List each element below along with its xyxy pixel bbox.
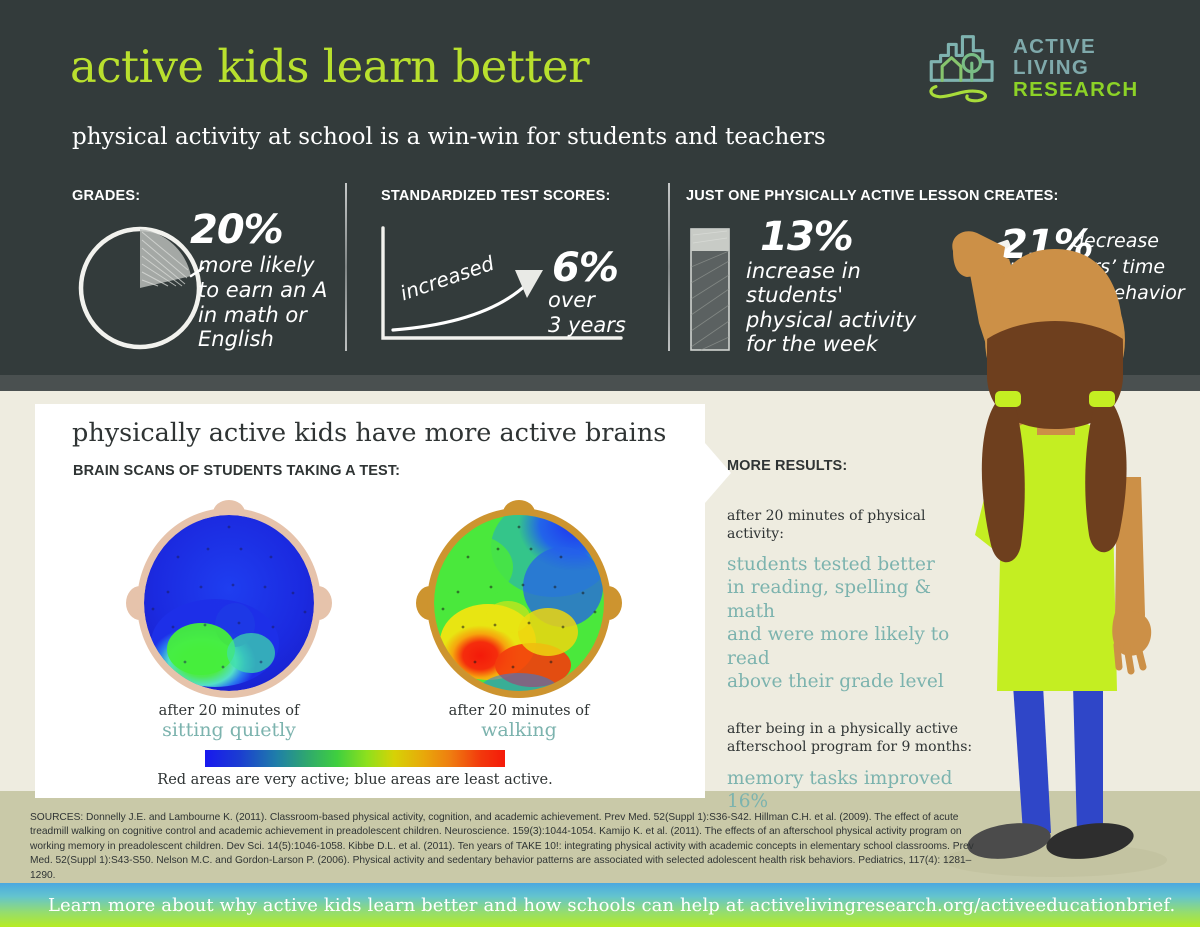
logo-line-2: RESEARCH [1013,79,1175,100]
scan-caption-walking: after 20 minutes of walking [389,703,649,741]
panel-subtitle: BRAIN SCANS OF STUDENTS TAKING A TEST: [73,463,400,479]
stat-body-active-lesson: increase in students' physical activity … [746,259,916,356]
scan-caption-sitting: after 20 minutes of sitting quietly [99,703,359,741]
stat-percent-active-lesson: 13% [760,214,853,260]
footer-link-text[interactable]: Learn more about why active kids learn b… [0,895,1175,916]
column-divider-1 [345,183,347,351]
stat-body-grades: more likely to earn an A in math or Engl… [198,253,327,352]
scan-caption-top-2: after 20 minutes of [389,703,649,719]
stat-percent-test-scores: 6% [552,245,618,291]
sources-text: SOURCES: Donnelly J.E. and Lambourne K. … [30,811,980,883]
logo-wordmark: ACTIVE LIVING RESEARCH [1013,36,1175,100]
infographic-root: ACTIVE LIVING RESEARCH active kids learn… [0,0,1200,927]
activity-colorbar-legend [205,750,505,767]
stat-percent-grades: 20% [190,207,283,253]
logo-line-1: ACTIVE LIVING [1013,36,1175,79]
stat-body-test-scores: over 3 years [548,288,626,338]
bar-chart-active-lesson [689,227,731,352]
brain-scan-walking [413,497,625,703]
page-title: active kids learn better [70,40,589,93]
stat-label-active-lesson: JUST ONE PHYSICALLY ACTIVE LESSON CREATE… [686,188,1059,204]
colorbar-caption: Red areas are very active; blue areas ar… [130,772,580,788]
panel-title: physically active kids have more active … [72,418,666,448]
active-living-research-logo[interactable]: ACTIVE LIVING RESEARCH [925,28,1175,108]
footer-bar[interactable]: Learn more about why active kids learn b… [0,883,1200,927]
scan-caption-bottom-2: walking [389,719,649,741]
scan-caption-top-1: after 20 minutes of [99,703,359,719]
brain-scan-sitting-quietly [123,497,335,703]
stat-label-grades: GRADES: [72,188,140,204]
page-subtitle: physical activity at school is a win-win… [72,124,826,150]
scan-caption-bottom-1: sitting quietly [99,719,359,741]
city-skyline-icon [925,32,1003,104]
stat-label-test-scores: STANDARDIZED TEST SCORES: [381,188,611,204]
student-illustration [905,215,1200,883]
column-divider-2 [668,183,670,351]
